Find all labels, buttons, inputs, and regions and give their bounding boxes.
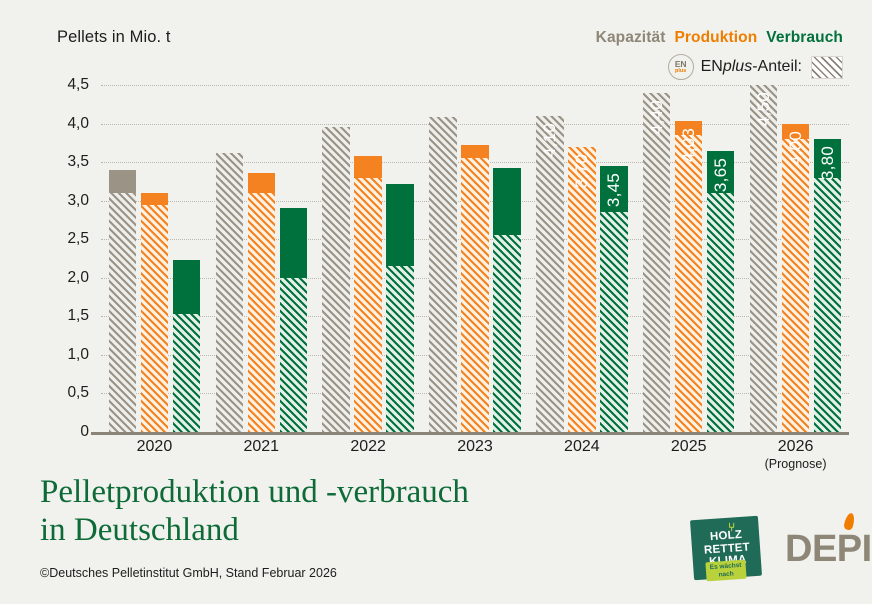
legend-enplus-label: ENplus-Anteil: — [701, 58, 802, 76]
bar-group — [422, 85, 529, 432]
y-axis-tick-label: 2,0 — [41, 269, 89, 287]
bar-enplus-hatched-segment — [280, 278, 308, 432]
bar-kapazitat-2020[interactable] — [109, 170, 137, 432]
bar-solid-segment — [461, 145, 489, 158]
legend-item-verbrauch: Verbrauch — [766, 29, 843, 46]
legend-item-produktion: Produktion — [674, 29, 757, 46]
holz-rettet-klima-logo: ⑂ HOLZ RETTET KLIMA Es wächst nach — [690, 516, 764, 582]
depi-logo: DEPI — [785, 528, 872, 571]
y-axis-tick-label: 0,5 — [41, 384, 89, 402]
legend-item-kapazitaet: Kapazität — [596, 29, 666, 46]
bar-enplus-hatched-segment — [354, 178, 382, 432]
bar-solid-segment — [782, 124, 810, 139]
bar-solid-segment — [675, 121, 703, 135]
bar-verbrauch-2020[interactable] — [173, 260, 201, 432]
bar-solid-segment — [493, 168, 521, 235]
bar-solid-segment — [814, 139, 842, 178]
chart-legend: KapazitätProduktionVerbrauch EN plus ENp… — [596, 29, 843, 80]
bar-verbrauch-2026[interactable]: 3,80 — [814, 139, 842, 432]
hrk-badge: Es wächst nach — [705, 560, 746, 582]
bar-group: 4,504,003,80 — [742, 85, 849, 432]
bar-enplus-hatched-segment — [643, 93, 671, 432]
bar-solid-segment — [354, 156, 382, 178]
legend-enplus-post: -Anteil: — [752, 58, 802, 75]
y-axis-tick-label: 4,5 — [41, 76, 89, 94]
bar-verbrauch-2024[interactable]: 3,45 — [600, 166, 628, 432]
y-axis-tick-label: 2,5 — [41, 230, 89, 248]
bar-solid-segment — [386, 184, 414, 266]
bar-verbrauch-2021[interactable] — [280, 208, 308, 432]
depi-logo-text: DEPI — [785, 528, 872, 570]
bar-kapazitat-2025[interactable]: 4,40 — [643, 93, 671, 432]
y-axis-tick-label: 4,0 — [41, 115, 89, 133]
infographic-root: Pellets in Mio. t KapazitätProduktionVer… — [0, 0, 872, 604]
bar-group — [208, 85, 315, 432]
bar-produktion-2022[interactable] — [354, 156, 382, 432]
bar-enplus-hatched-segment — [814, 178, 842, 432]
page-title-line1: Pelletproduktion und -verbrauch — [40, 474, 469, 510]
bar-produktion-2020[interactable] — [141, 193, 169, 432]
bar-enplus-hatched-segment — [109, 193, 137, 432]
bar-enplus-hatched-segment — [675, 135, 703, 432]
enplus-logo-icon: EN plus — [668, 54, 694, 80]
y-axis-title: Pellets in Mio. t — [57, 28, 171, 47]
bar-enplus-hatched-segment — [386, 266, 414, 432]
chart-plot-area: 4,54,03,53,02,52,01,51,00,50 4,103,703,4… — [101, 85, 849, 432]
y-axis-tick-label: 1,5 — [41, 307, 89, 325]
x-axis-tick-label: 2021 — [208, 438, 315, 456]
bar-enplus-hatched-segment — [568, 147, 596, 432]
x-axis-tick-label: 2020 — [101, 438, 208, 456]
bar-enplus-hatched-segment — [461, 158, 489, 432]
bar-produktion-2025[interactable]: 4,03 — [675, 121, 703, 432]
bar-solid-segment — [173, 260, 201, 314]
bar-solid-segment — [280, 208, 308, 277]
bar-enplus-hatched-segment — [322, 127, 350, 432]
y-axis-tick-label: 0 — [41, 423, 89, 441]
y-axis-tick-label: 1,0 — [41, 346, 89, 364]
x-axis-tick-sublabel: (Prognose) — [742, 457, 849, 471]
bar-verbrauch-2023[interactable] — [493, 168, 521, 432]
page-title: Pelletproduktion und -verbrauch in Deuts… — [40, 474, 660, 549]
x-axis-tick-label: 2026(Prognose) — [742, 438, 849, 471]
bar-kapazitat-2026[interactable]: 4,50 — [750, 85, 778, 432]
legend-enplus-italic: plus — [723, 58, 752, 75]
legend-enplus-pre: EN — [701, 58, 723, 75]
bar-enplus-hatched-segment — [173, 314, 201, 432]
bar-solid-segment — [600, 166, 628, 212]
bar-group: 4,404,033,65 — [635, 85, 742, 432]
enplus-logo-en-text: EN — [675, 60, 686, 69]
bar-enplus-hatched-segment — [429, 117, 457, 432]
enplus-logo-plus-text: plus — [675, 69, 686, 75]
x-axis-tick-label: 2024 — [528, 438, 635, 456]
bar-kapazitat-2023[interactable] — [429, 117, 457, 432]
bar-enplus-hatched-segment — [493, 235, 521, 432]
bar-produktion-2024[interactable]: 3,70 — [568, 147, 596, 432]
bar-enplus-hatched-segment — [600, 212, 628, 432]
legend-enplus-row: EN plus ENplus-Anteil: — [596, 54, 843, 80]
copyright-note: ©Deutsches Pelletinstitut GmbH, Stand Fe… — [40, 566, 337, 580]
y-axis-tick-label: 3,5 — [41, 153, 89, 171]
bar-verbrauch-2022[interactable] — [386, 184, 414, 432]
bar-kapazitat-2024[interactable]: 4,10 — [536, 116, 564, 432]
bar-enplus-hatched-segment — [141, 205, 169, 432]
bar-group — [101, 85, 208, 432]
x-axis-tick-label: 2023 — [422, 438, 529, 456]
bar-enplus-hatched-segment — [750, 85, 778, 432]
x-axis-tick-label: 2022 — [315, 438, 422, 456]
bar-solid-segment — [141, 193, 169, 205]
legend-series-row: KapazitätProduktionVerbrauch — [596, 29, 843, 47]
bar-solid-segment — [109, 170, 137, 193]
bar-enplus-hatched-segment — [216, 153, 244, 432]
y-axis-tick-label: 3,0 — [41, 192, 89, 210]
x-axis-tick-label: 2025 — [635, 438, 742, 456]
bar-enplus-hatched-segment — [248, 193, 276, 432]
bar-produktion-2023[interactable] — [461, 145, 489, 432]
bar-enplus-hatched-segment — [707, 193, 735, 432]
x-axis-baseline — [91, 432, 849, 435]
bar-enplus-hatched-segment — [782, 139, 810, 432]
bar-produktion-2026[interactable]: 4,00 — [782, 124, 810, 432]
bar-enplus-hatched-segment — [536, 116, 564, 432]
bar-group — [315, 85, 422, 432]
bar-group: 4,103,703,45 — [528, 85, 635, 432]
bar-kapazitat-2021[interactable] — [216, 153, 244, 432]
page-title-line2: in Deutschland — [40, 512, 239, 548]
bar-kapazitat-2022[interactable] — [322, 127, 350, 432]
bar-verbrauch-2025[interactable]: 3,65 — [707, 151, 735, 432]
bar-solid-segment — [248, 173, 276, 193]
bar-produktion-2021[interactable] — [248, 173, 276, 432]
bar-solid-segment — [707, 151, 735, 193]
hatch-pattern-swatch-icon — [811, 56, 843, 79]
